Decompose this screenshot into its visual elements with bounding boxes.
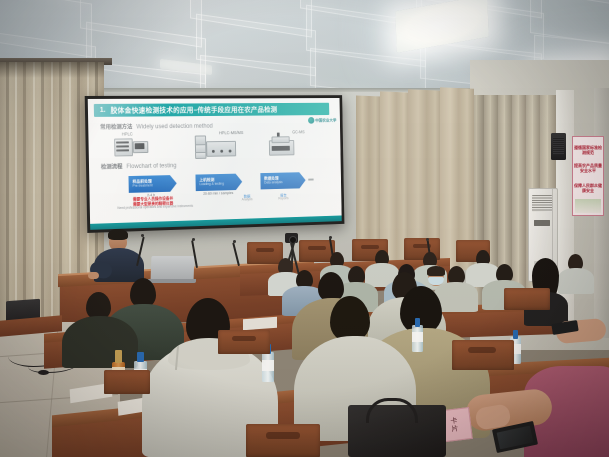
chair-front-1[interactable] [246, 424, 320, 457]
flow-note-4-en: Reports [272, 197, 296, 201]
equipment-hplc-shelf-1 [116, 141, 129, 143]
chair-head-2-slot [308, 246, 326, 250]
equipment-msms-knob-3 [229, 150, 232, 153]
wall-poster: 遵循国家标准检测规范 提高农产品质量安全水平 保障人民群众健康安全 [572, 136, 604, 216]
poster-line-2: 提高农产品质量安全水平 [573, 163, 603, 174]
flow-step-1: 样品前处理 Pre-treatment [128, 175, 176, 193]
poster-decoration [575, 199, 601, 213]
curtain-shadow [0, 62, 104, 78]
slide-warning: 需要专业人员操作设备并 需要大型昂贵的精密仪器 Need professiona… [117, 196, 188, 211]
presenter-hair [108, 229, 128, 240]
poster-line-3: 保障人民群众健康安全 [573, 183, 603, 194]
slide-number: 1. [100, 107, 106, 114]
equipment-msms-left3 [195, 152, 206, 159]
ac-display-panel[interactable] [534, 220, 550, 226]
microphone-5-head-icon [426, 238, 429, 241]
water-bottle-3[interactable] [412, 318, 423, 352]
section-heading-2: 检测流程 Flowchart of testing [101, 161, 177, 170]
microphone-1-head-icon [141, 234, 144, 237]
warning-en: Need professional operators and expensiv… [117, 205, 188, 211]
name-card-text: 卡片 [448, 416, 460, 433]
chair-mid-1[interactable] [218, 330, 270, 354]
equipment-hplc-screen [135, 143, 145, 149]
laptop-lid [151, 256, 195, 280]
equipment-label-hplc: HPLC [122, 131, 133, 136]
flow-step-3: 数据处理 Data analysis [260, 172, 305, 189]
floor-cable-coil [38, 370, 49, 375]
chair-mid-2[interactable] [504, 288, 550, 310]
section1-cn: 常用检测方法 [100, 123, 132, 131]
logo-mark-icon [308, 117, 314, 124]
audience-body-c4 [62, 316, 138, 368]
audience-body-a6 [558, 268, 594, 294]
chair-head-1-slot [256, 248, 274, 252]
section2-en: Flowchart of testing [126, 163, 176, 170]
conference-room-photo: 遵循国家标准检测规范 提高农产品质量安全水平 保障人民群众健康安全 [0, 0, 609, 457]
presenter-hand [88, 272, 99, 279]
flow-end-marker [308, 179, 313, 181]
flow-step-3-en: Data analysis [264, 180, 306, 185]
section-heading-1: 常用检测方法 Widely used detection method [100, 122, 213, 131]
section2-cn: 检测流程 [101, 162, 123, 170]
microphone-2-head-icon [192, 238, 195, 241]
equipment-gcms-panel [272, 146, 290, 151]
projection-screen[interactable]: 1. 胶体金快速检测技术的应用–传统手段应用在农产品检测 中国农业大学 常用检测… [85, 95, 345, 233]
microphone-4-head-icon [329, 236, 332, 239]
flow-note-4: 报告 Reports [272, 193, 296, 201]
slide-title: 胶体金快速检测技术的应用–传统手段应用在农产品检测 [110, 104, 277, 115]
microphone-3-head-icon [233, 240, 236, 243]
poster-line-1: 遵循国家标准检测规范 [573, 145, 603, 156]
laptop-base [148, 279, 196, 283]
equipment-hplc-shelf-2 [116, 145, 129, 147]
flow-step-2: 上机检测 Loading & testing [195, 174, 242, 192]
chair-front-1-slot [266, 432, 300, 439]
chair-head-3-slot [361, 245, 379, 249]
wall-speaker-grill [553, 137, 564, 155]
flow-note-3-en: Analysis [235, 198, 259, 202]
slide-surface: 1. 胶体金快速检测技术的应用–传统手段应用在农产品检测 中国农业大学 常用检测… [88, 98, 342, 224]
equipment-hplc-shelf-3 [116, 149, 129, 151]
equipment-msms-knob-1 [212, 150, 215, 153]
logo-text: 中国农业大学 [315, 117, 336, 123]
chair-head-1[interactable] [247, 242, 283, 264]
flow-note-3: 数据 Analysis [235, 194, 259, 203]
window-curtain-right[interactable] [356, 96, 382, 262]
chair-mid-1-slot [232, 336, 256, 341]
audience-face-mask [428, 277, 444, 285]
chair-front-2[interactable] [452, 340, 514, 370]
audience-masked-hair [427, 266, 445, 276]
university-logo: 中国农业大学 [308, 117, 336, 124]
chair-front-2-slot [468, 347, 496, 353]
chair-front-3[interactable] [104, 370, 150, 394]
equipment-msms-knob-2 [220, 150, 223, 153]
slide-title-bar: 1. 胶体金快速检测技术的应用–传统手段应用在农产品检测 [94, 103, 330, 117]
section1-en: Widely used detection method [136, 124, 213, 131]
flow-step-1-en: Pre-treatment [133, 184, 177, 189]
equipment-label-hplcmsms: HPLC-MS/MS [219, 130, 243, 135]
equipment-label-gcms: GC-MS [292, 129, 305, 134]
laptop[interactable] [148, 256, 196, 282]
equipment-gcms-top [272, 136, 290, 143]
flow-step-2-en: Loading & testing [199, 182, 242, 187]
